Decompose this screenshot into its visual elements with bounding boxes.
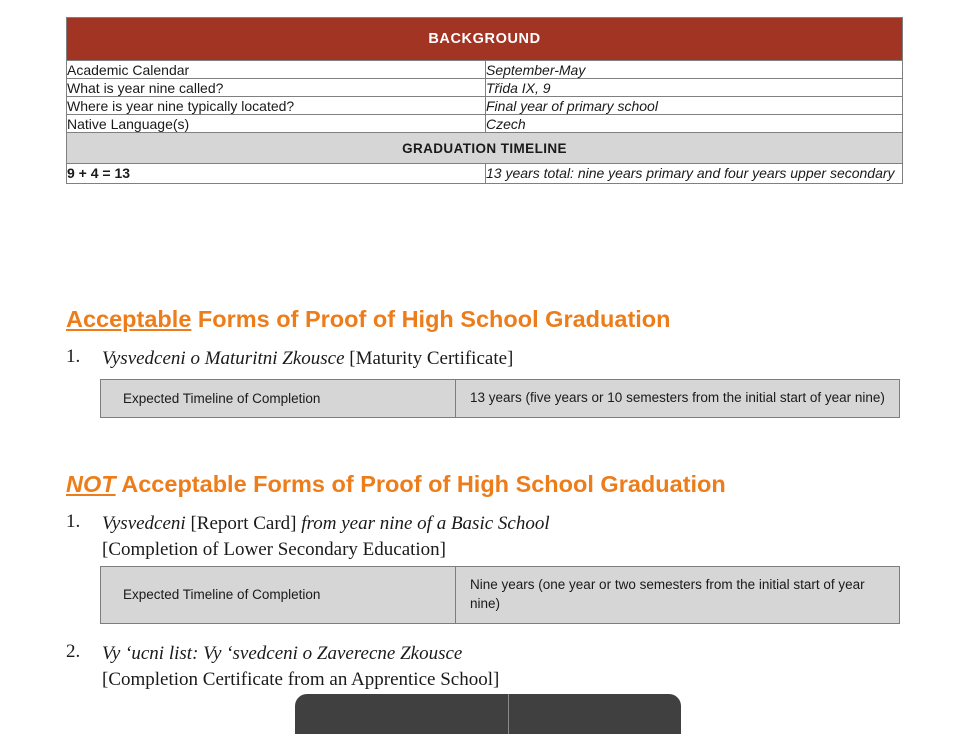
row-label-native-language: Native Language(s) — [67, 115, 486, 133]
not-acceptable-heading-emphasis: NOT — [66, 471, 116, 497]
bottom-dark-table-column-divider — [508, 694, 509, 734]
table-row: Native Language(s) Czech — [67, 115, 903, 133]
background-table: BACKGROUND Academic Calendar September-M… — [66, 17, 903, 184]
table-row: Expected Timeline of Completion 13 years… — [101, 380, 900, 418]
expected-timeline-label: Expected Timeline of Completion — [101, 567, 456, 624]
graduation-timeline-title: GRADUATION TIMELINE — [67, 133, 903, 164]
list-item-line-2: [Completion Certificate from an Apprenti… — [102, 667, 499, 693]
row-label-academic-calendar: Academic Calendar — [67, 61, 486, 79]
list-item-native-term: Vysvedceni o Maturitni Zkousce — [102, 348, 345, 369]
table-row: Where is year nine typically located? Fi… — [67, 97, 903, 115]
expected-timeline-label: Expected Timeline of Completion — [101, 380, 456, 418]
list-item-line-2: [Completion of Lower Secondary Education… — [102, 537, 550, 563]
table-row: What is year nine called? Třida IX, 9 — [67, 79, 903, 97]
list-item-number: 2. — [66, 641, 92, 663]
row-value-year-nine-located: Final year of primary school — [486, 97, 903, 115]
background-table-title: BACKGROUND — [67, 18, 903, 61]
list-item-translation: [Maturity Certificate] — [349, 348, 513, 369]
row-value-academic-calendar: September-May — [486, 61, 903, 79]
row-value-native-language: Czech — [486, 115, 903, 133]
list-item: 1. Vysvedceni [Report Card] from year ni… — [66, 511, 550, 562]
list-item-native-term: Vy ‘ucni list: Vy ‘svedceni o Zaverecne … — [102, 641, 499, 667]
row-label-year-nine-called: What is year nine called? — [67, 79, 486, 97]
table-row: 9 + 4 = 13 13 years total: nine years pr… — [67, 164, 903, 184]
row-label-year-nine-located: Where is year nine typically located? — [67, 97, 486, 115]
list-item-number: 1. — [66, 511, 92, 533]
expected-timeline-value: 13 years (five years or 10 semesters fro… — [456, 380, 900, 418]
expected-timeline-value: Nine years (one year or two semesters fr… — [456, 567, 900, 624]
table-row: Expected Timeline of Completion Nine yea… — [101, 567, 900, 624]
acceptable-section-heading: Acceptable Forms of Proof of High School… — [66, 306, 671, 333]
row-value-year-nine-called: Třida IX, 9 — [486, 79, 903, 97]
list-item: 1. Vysvedceni o Maturitni Zkousce [Matur… — [66, 346, 513, 372]
not-acceptable-section-heading: NOT Acceptable Forms of Proof of High Sc… — [66, 471, 726, 498]
acceptable-heading-rest: Forms of Proof of High School Graduation — [191, 306, 670, 332]
list-item-body: Vy ‘ucni list: Vy ‘svedceni o Zaverecne … — [102, 641, 499, 692]
list-item-body: Vysvedceni [Report Card] from year nine … — [102, 511, 550, 562]
bottom-dark-table — [295, 694, 681, 734]
table-row: Academic Calendar September-May — [67, 61, 903, 79]
list-item-translation: [Report Card] — [190, 513, 296, 534]
list-item-number: 1. — [66, 346, 92, 368]
not-acceptable-heading-rest: Acceptable Forms of Proof of High School… — [116, 471, 726, 497]
row-label-graduation-formula: 9 + 4 = 13 — [67, 164, 486, 184]
table-row-subheader: GRADUATION TIMELINE — [67, 133, 903, 164]
acceptable-timeline-table: Expected Timeline of Completion 13 years… — [100, 379, 900, 418]
list-item-native-term: Vysvedceni — [102, 513, 186, 534]
row-value-graduation-formula: 13 years total: nine years primary and f… — [486, 164, 903, 184]
list-item-qualifier: from year nine of a Basic School — [301, 513, 549, 534]
list-item: 2. Vy ‘ucni list: Vy ‘svedceni o Zaverec… — [66, 641, 499, 692]
table-row-header: BACKGROUND — [67, 18, 903, 61]
list-item-body: Vysvedceni o Maturitni Zkousce [Maturity… — [102, 346, 513, 372]
list-item-line-1: Vysvedceni [Report Card] from year nine … — [102, 511, 550, 537]
not-acceptable-timeline-table: Expected Timeline of Completion Nine yea… — [100, 566, 900, 624]
acceptable-heading-emphasis: Acceptable — [66, 306, 191, 332]
